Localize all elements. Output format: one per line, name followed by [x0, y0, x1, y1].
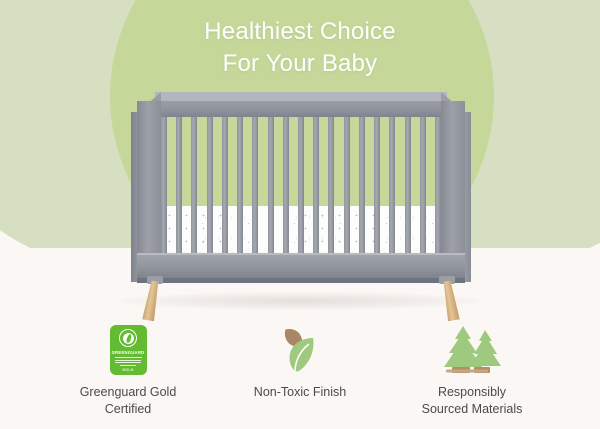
- badge-label-line-1: Greenguard Gold: [80, 385, 177, 399]
- crib-top-rail: [137, 101, 465, 117]
- crib-slat: [252, 117, 258, 255]
- greenguard-gold-certificate-icon: GREENGUARD GOLD: [110, 322, 147, 378]
- crib-slat: [405, 117, 411, 255]
- crib-slat: [389, 117, 395, 255]
- crib-slat: [161, 117, 167, 255]
- crib-product-image: [131, 88, 471, 310]
- crib-slat: [237, 117, 243, 255]
- badge-non-toxic: Non-Toxic Finish: [225, 322, 375, 401]
- ground-log-plank: [446, 370, 488, 373]
- crib-slat: [283, 117, 289, 255]
- marketing-hero-image: Healthiest Choice For Your Baby: [0, 0, 600, 429]
- crib-slat: [222, 117, 228, 255]
- page-title: Healthiest Choice For Your Baby: [0, 16, 600, 80]
- crib-slat: [313, 117, 319, 255]
- badge-responsibly-sourced: Responsibly Sourced Materials: [397, 322, 547, 417]
- badge-label-line-1: Responsibly: [438, 385, 506, 399]
- pine-trees-icon: [440, 322, 504, 378]
- crib-slat: [191, 117, 197, 255]
- crib-frame: [131, 88, 471, 282]
- badge-label-line-2: Certified: [105, 402, 152, 416]
- badge-label-non-toxic: Non-Toxic Finish: [254, 384, 346, 401]
- greenguard-wordmark: GREENGUARD: [112, 350, 145, 355]
- crib-slat: [420, 117, 426, 255]
- crib-slat: [328, 117, 334, 255]
- crib-slat: [207, 117, 213, 255]
- crib-slat: [344, 117, 350, 255]
- badge-label-line-2: Sourced Materials: [422, 402, 523, 416]
- greenguard-tier-label: GOLD: [110, 368, 147, 372]
- crib-slats: [161, 117, 441, 255]
- greenguard-card: GREENGUARD GOLD: [110, 325, 147, 375]
- crib-slat: [359, 117, 365, 255]
- pine-tree-left-shape: [444, 326, 482, 367]
- greenguard-fineprint: [115, 357, 142, 366]
- feature-badges-row: GREENGUARD GOLD Greenguard Gold Certifie…: [0, 322, 600, 422]
- crib-slat: [268, 117, 274, 255]
- two-leaves-icon: [272, 322, 328, 378]
- badge-greenguard: GREENGUARD GOLD Greenguard Gold Certifie…: [53, 322, 203, 417]
- greenguard-leaf-circle-icon: [119, 329, 137, 347]
- headline-line-1: Healthiest Choice: [204, 18, 396, 45]
- headline-line-2: For Your Baby: [0, 48, 600, 80]
- badge-label-line-1: Non-Toxic Finish: [254, 385, 346, 399]
- crib-slat: [374, 117, 380, 255]
- badge-label-greenguard: Greenguard Gold Certified: [80, 384, 177, 417]
- crib-slat: [298, 117, 304, 255]
- badge-label-responsibly-sourced: Responsibly Sourced Materials: [422, 384, 523, 417]
- crib-base-shadow: [137, 278, 465, 283]
- crib-slat: [176, 117, 182, 255]
